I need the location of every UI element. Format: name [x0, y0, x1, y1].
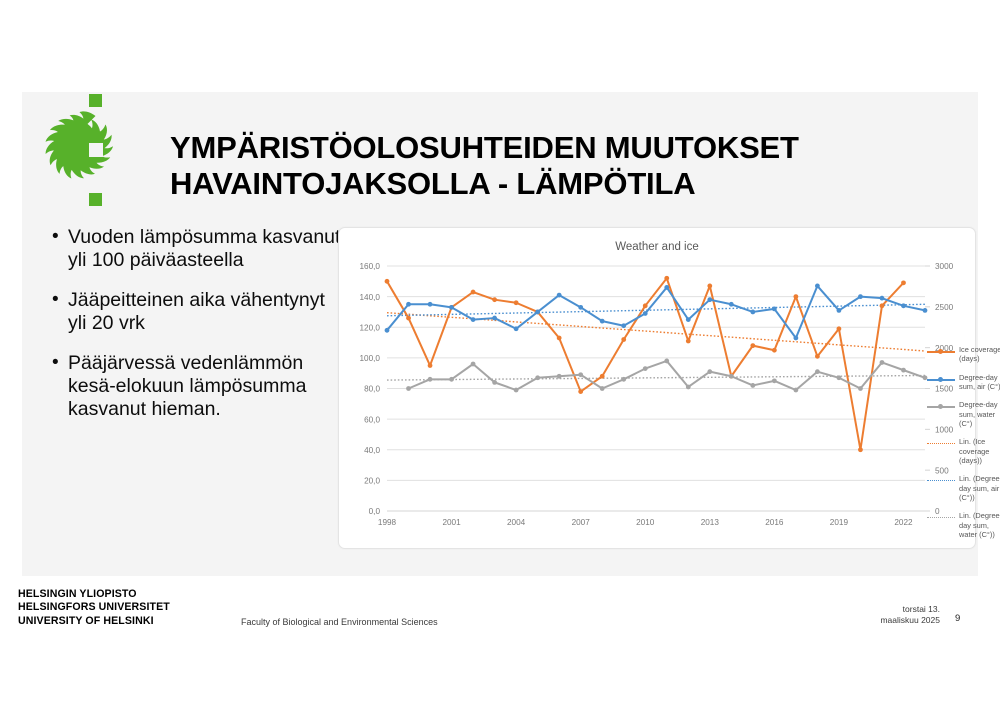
series-marker — [557, 293, 562, 298]
series-marker — [385, 328, 390, 333]
legend-swatch-icon — [927, 347, 955, 357]
series-marker — [449, 305, 454, 310]
series-marker — [707, 297, 712, 302]
legend-swatch-icon — [927, 402, 955, 412]
chart-container: Weather and ice 0,020,040,060,080,0100,0… — [338, 227, 976, 549]
bullet-text: Pääjärvessä vedenlämmön kesä-elokuun läm… — [68, 352, 342, 421]
slide-date-line-1: torstai 13. — [820, 604, 940, 615]
series-marker — [880, 296, 885, 301]
right-axis-tick-label: 2500 — [935, 303, 954, 312]
series-marker — [686, 317, 691, 322]
legend-label: Degree-day sum, water (C°) — [959, 400, 1000, 428]
list-item: • Jääpeitteinen aika vähentynyt yli 20 v… — [52, 289, 342, 335]
series-line — [387, 286, 925, 338]
slide-date-line-2: maaliskuu 2025 — [820, 615, 940, 626]
x-axis-tick-label: 2022 — [894, 518, 913, 527]
bullet-dot-icon: • — [52, 289, 68, 335]
slide-date: torstai 13. maaliskuu 2025 — [820, 604, 940, 626]
series-marker — [621, 377, 626, 382]
wordmark-line-fi: HELSINGIN YLIOPISTO — [18, 588, 170, 601]
series-marker — [578, 305, 583, 310]
x-axis-tick-label: 2010 — [636, 518, 655, 527]
series-marker — [514, 388, 519, 393]
series-marker — [880, 303, 885, 308]
series-marker — [406, 386, 411, 391]
series-marker — [406, 316, 411, 321]
series-marker — [923, 308, 928, 313]
series-marker — [557, 374, 562, 379]
series-marker — [901, 280, 906, 285]
series-marker — [578, 372, 583, 377]
series-marker — [643, 311, 648, 316]
series-marker — [664, 276, 669, 281]
legend-item: Degree-day sum, water (C°) — [927, 400, 1000, 428]
series-marker — [600, 319, 605, 324]
legend-swatch-icon — [927, 375, 955, 385]
series-marker — [901, 303, 906, 308]
series-marker — [793, 294, 798, 299]
list-item: • Vuoden lämpösumma kasvanut yli 100 päi… — [52, 226, 342, 272]
series-marker — [901, 368, 906, 373]
series-marker — [600, 374, 605, 379]
chart-gridlines — [387, 266, 925, 511]
left-axis-tick-label: 140,0 — [360, 293, 381, 302]
left-axis-tick-label: 160,0 — [360, 262, 381, 271]
series-marker — [557, 336, 562, 341]
legend-label: Lin. (Degree-day sum, water (C°)) — [959, 511, 1000, 539]
faculty-label: Faculty of Biological and Environmental … — [241, 617, 438, 627]
series-marker — [858, 447, 863, 452]
series-marker — [793, 388, 798, 393]
series-marker — [492, 380, 497, 385]
series-marker — [815, 369, 820, 374]
bullet-dot-icon: • — [52, 352, 68, 421]
chart-data-series — [385, 276, 928, 452]
bullet-dot-icon: • — [52, 226, 68, 272]
bullet-list: • Vuoden lämpösumma kasvanut yli 100 päi… — [52, 226, 342, 438]
series-marker — [707, 284, 712, 289]
series-marker — [492, 297, 497, 302]
series-marker — [621, 337, 626, 342]
series-marker — [471, 317, 476, 322]
series-marker — [406, 302, 411, 307]
series-marker — [750, 383, 755, 388]
legend-label: Degree-day sum, air (C°) — [959, 373, 1000, 392]
series-marker — [385, 279, 390, 284]
chart-legend: Ice coverage (days)Degree-day sum, air (… — [927, 345, 1000, 548]
left-axis-tick-label: 80,0 — [364, 385, 380, 394]
left-axis-tick-label: 60,0 — [364, 415, 380, 424]
x-axis-tick-label: 2016 — [765, 518, 784, 527]
series-marker — [772, 306, 777, 311]
wordmark-line-sv: HELSINGFORS UNIVERSITET — [18, 601, 170, 614]
legend-item: Lin. (Ice coverage (days)) — [927, 437, 1000, 465]
x-axis-tick-label: 2001 — [442, 518, 461, 527]
series-marker — [686, 339, 691, 344]
left-axis-tick-label: 40,0 — [364, 446, 380, 455]
x-axis-tick-label: 2019 — [830, 518, 849, 527]
university-wordmark: HELSINGIN YLIOPISTO HELSINGFORS UNIVERSI… — [18, 588, 170, 628]
series-marker — [837, 308, 842, 313]
series-marker — [837, 375, 842, 380]
legend-label: Ice coverage (days) — [959, 345, 1000, 364]
series-marker — [686, 385, 691, 390]
series-marker — [815, 354, 820, 359]
series-marker — [880, 360, 885, 365]
legend-item: Ice coverage (days) — [927, 345, 1000, 364]
series-marker — [535, 375, 540, 380]
series-marker — [535, 310, 540, 315]
series-marker — [514, 326, 519, 331]
list-item: • Pääjärvessä vedenlämmön kesä-elokuun l… — [52, 352, 342, 421]
legend-swatch-icon — [927, 439, 955, 449]
x-axis-tick-label: 2007 — [572, 518, 591, 527]
series-marker — [514, 300, 519, 305]
left-axis-tick-label: 0,0 — [369, 507, 381, 516]
x-axis-tick-label: 1998 — [378, 518, 397, 527]
series-marker — [643, 366, 648, 371]
series-marker — [707, 369, 712, 374]
series-marker — [664, 285, 669, 290]
slide-title: YMPÄRISTÖOLOSUHTEIDEN MUUTOKSET HAVAINTO… — [170, 130, 950, 203]
left-axis-tick-label: 120,0 — [360, 323, 381, 332]
left-axis-tick-label: 20,0 — [364, 477, 380, 486]
slide-page-number: 9 — [955, 613, 960, 624]
left-axis-tick-label: 100,0 — [360, 354, 381, 363]
series-marker — [471, 290, 476, 295]
legend-item: Lin. (Degree-day sum, air (C°)) — [927, 474, 1000, 502]
legend-item: Lin. (Degree-day sum, water (C°)) — [927, 511, 1000, 539]
series-marker — [643, 303, 648, 308]
series-marker — [858, 386, 863, 391]
wordmark-line-en: UNIVERSITY OF HELSINKI — [18, 615, 170, 628]
bullet-text: Jääpeitteinen aika vähentynyt yli 20 vrk — [68, 289, 342, 335]
chart-left-axis-labels: 0,020,040,060,080,0100,0120,0140,0160,0 — [360, 262, 381, 516]
series-marker — [858, 294, 863, 299]
series-marker — [793, 336, 798, 341]
series-marker — [729, 302, 734, 307]
series-marker — [492, 316, 497, 321]
series-marker — [772, 378, 777, 383]
series-marker — [750, 310, 755, 315]
slide-panel: YMPÄRISTÖOLOSUHTEIDEN MUUTOKSET HAVAINTO… — [22, 92, 978, 576]
x-axis-tick-label: 2013 — [701, 518, 720, 527]
legend-label: Lin. (Ice coverage (days)) — [959, 437, 1000, 465]
university-of-helsinki-crest-logo — [32, 94, 162, 206]
slide-title-line-1: YMPÄRISTÖOLOSUHTEIDEN MUUTOKSET — [170, 130, 950, 166]
legend-swatch-icon — [927, 513, 955, 523]
series-marker — [815, 284, 820, 289]
series-marker — [471, 362, 476, 367]
series-marker — [600, 386, 605, 391]
legend-item: Degree-day sum, air (C°) — [927, 373, 1000, 392]
series-marker — [729, 374, 734, 379]
series-marker — [621, 323, 626, 328]
series-marker — [428, 363, 433, 368]
bullet-text: Vuoden lämpösumma kasvanut yli 100 päivä… — [68, 226, 342, 272]
series-marker — [578, 389, 583, 394]
trendline — [387, 313, 925, 351]
series-marker — [664, 359, 669, 364]
series-marker — [772, 348, 777, 353]
weather-and-ice-line-chart: Weather and ice 0,020,040,060,080,0100,0… — [339, 228, 975, 548]
legend-swatch-icon — [927, 476, 955, 486]
slide-title-line-2: HAVAINTOJAKSOLLA - LÄMPÖTILA — [170, 166, 950, 202]
chart-x-axis-labels: 199820012004200720102013201620192022 — [378, 511, 925, 527]
series-marker — [428, 302, 433, 307]
series-marker — [449, 377, 454, 382]
series-marker — [837, 326, 842, 331]
x-axis-tick-label: 2004 — [507, 518, 526, 527]
series-marker — [428, 377, 433, 382]
series-marker — [750, 343, 755, 348]
chart-title: Weather and ice — [615, 241, 699, 253]
legend-label: Lin. (Degree-day sum, air (C°)) — [959, 474, 1000, 502]
right-axis-tick-label: 3000 — [935, 262, 954, 271]
